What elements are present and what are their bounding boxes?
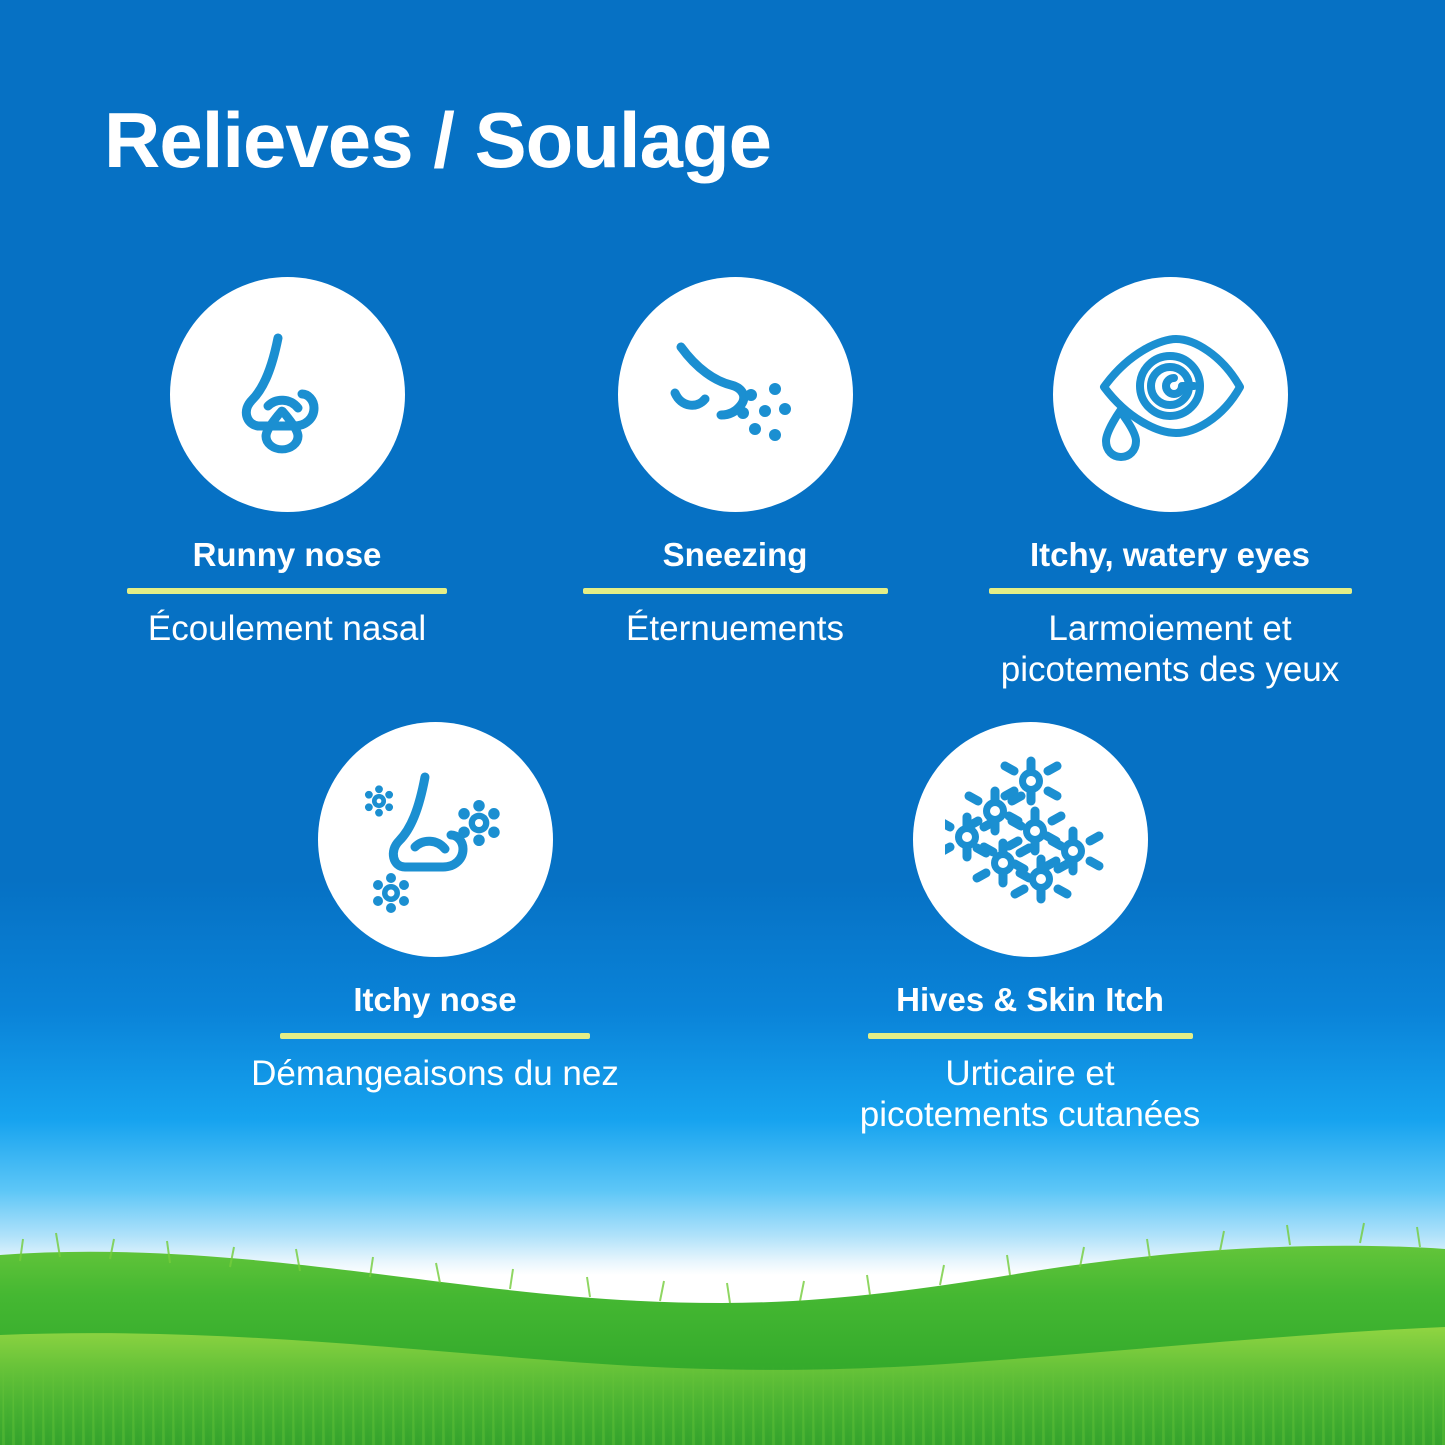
symptom-label-fr: Larmoiement et picotements des yeux bbox=[935, 608, 1405, 691]
symptom-label-en: Runny nose bbox=[62, 536, 512, 574]
label-divider bbox=[280, 1033, 590, 1039]
watery-eye-icon bbox=[1053, 277, 1288, 512]
itchy-nose-pollen-icon bbox=[318, 722, 553, 957]
symptom-label-fr: Démangeaisons du nez bbox=[155, 1053, 715, 1094]
symptom-itchy-nose: Itchy nose Démangeaisons du nez bbox=[155, 722, 715, 1094]
label-divider bbox=[868, 1033, 1193, 1039]
symptom-label-fr-line1: Larmoiement et bbox=[1048, 609, 1291, 648]
sneezing-nose-icon bbox=[618, 277, 853, 512]
relieves-panel: Relieves / Soulage Runny nose Écoulement… bbox=[0, 0, 1445, 1445]
symptom-label-en: Itchy, watery eyes bbox=[935, 536, 1405, 574]
symptom-label-en: Hives & Skin Itch bbox=[790, 981, 1270, 1019]
label-divider bbox=[127, 588, 447, 594]
page-title: Relieves / Soulage bbox=[104, 95, 771, 186]
hives-cluster-icon bbox=[913, 722, 1148, 957]
symptom-label-fr: Écoulement nasal bbox=[62, 608, 512, 649]
symptom-label-fr-line2: picotements des yeux bbox=[1001, 650, 1340, 689]
symptom-hives-skin-itch: Hives & Skin Itch Urticaire et picotemen… bbox=[790, 722, 1270, 1136]
symptom-label-fr: Éternuements bbox=[540, 608, 930, 649]
symptom-runny-nose: Runny nose Écoulement nasal bbox=[62, 277, 512, 649]
symptom-label-en: Sneezing bbox=[540, 536, 930, 574]
label-divider bbox=[583, 588, 888, 594]
symptom-itchy-watery-eyes: Itchy, watery eyes Larmoiement et picote… bbox=[935, 277, 1405, 691]
symptom-sneezing: Sneezing Éternuements bbox=[540, 277, 930, 649]
symptom-label-fr-line2: picotements cutanées bbox=[860, 1095, 1200, 1134]
symptom-label-en: Itchy nose bbox=[155, 981, 715, 1019]
symptom-label-fr-line1: Urticaire et bbox=[945, 1054, 1114, 1093]
label-divider bbox=[989, 588, 1352, 594]
runny-nose-icon bbox=[170, 277, 405, 512]
symptom-label-fr: Urticaire et picotements cutanées bbox=[790, 1053, 1270, 1136]
